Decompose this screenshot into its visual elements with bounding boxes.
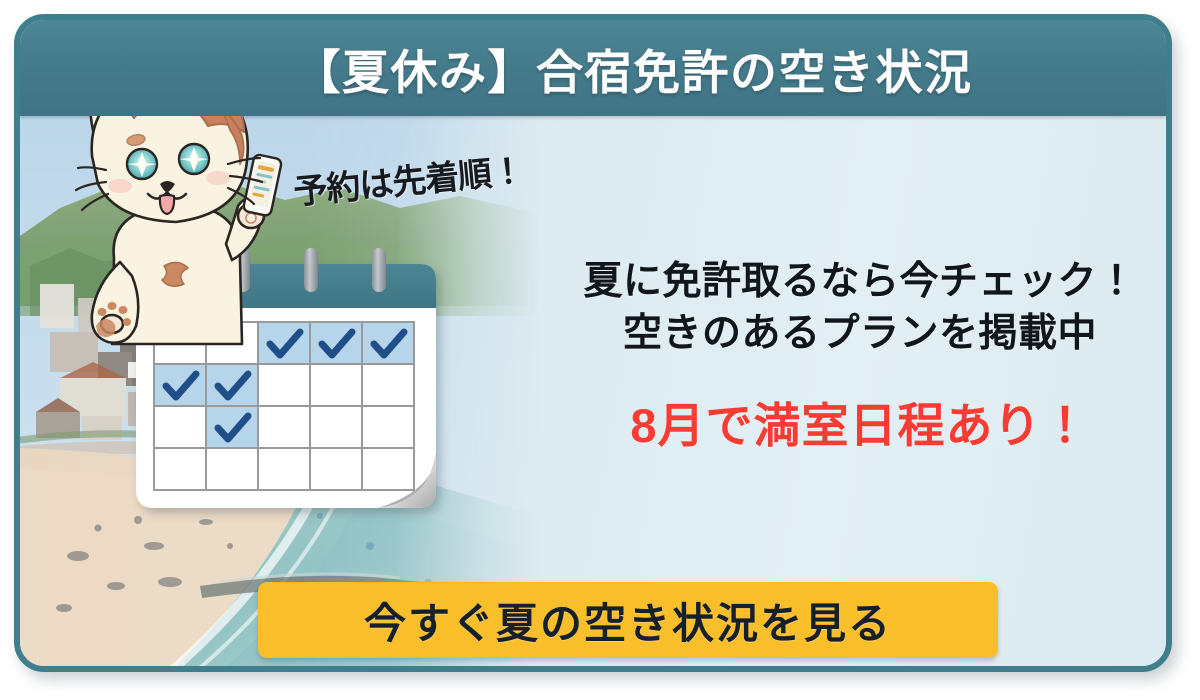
cta-button-label: 今すぐ夏の空き状況を見る [364,590,892,651]
cta-button[interactable]: 今すぐ夏の空き状況を見る [258,582,998,658]
banner-card: 【夏休み】合宿免許の空き状況 [14,14,1172,672]
highlight-message: 8月で満室日程あり！ [560,387,1160,456]
banner-stage: 【夏休み】合宿免許の空き状況 [0,0,1200,700]
banner-body: 予約は先着順！ 夏に免許取るなら今チェック！ 空きのあるプランを掲載中 8月で満… [20,116,1166,672]
copy-line-2: 空きのあるプランを掲載中 [560,308,1160,360]
calendar-illustration [132,246,444,526]
banner-title: 【夏休み】合宿免許の空き状況 [294,34,973,103]
copy-block: 夏に免許取るなら今チェック！ 空きのあるプランを掲載中 8月で満室日程あり！ [560,256,1160,456]
copy-line-1: 夏に免許取るなら今チェック！ [560,256,1160,308]
title-band: 【夏休み】合宿免許の空き状況 [20,20,1166,116]
